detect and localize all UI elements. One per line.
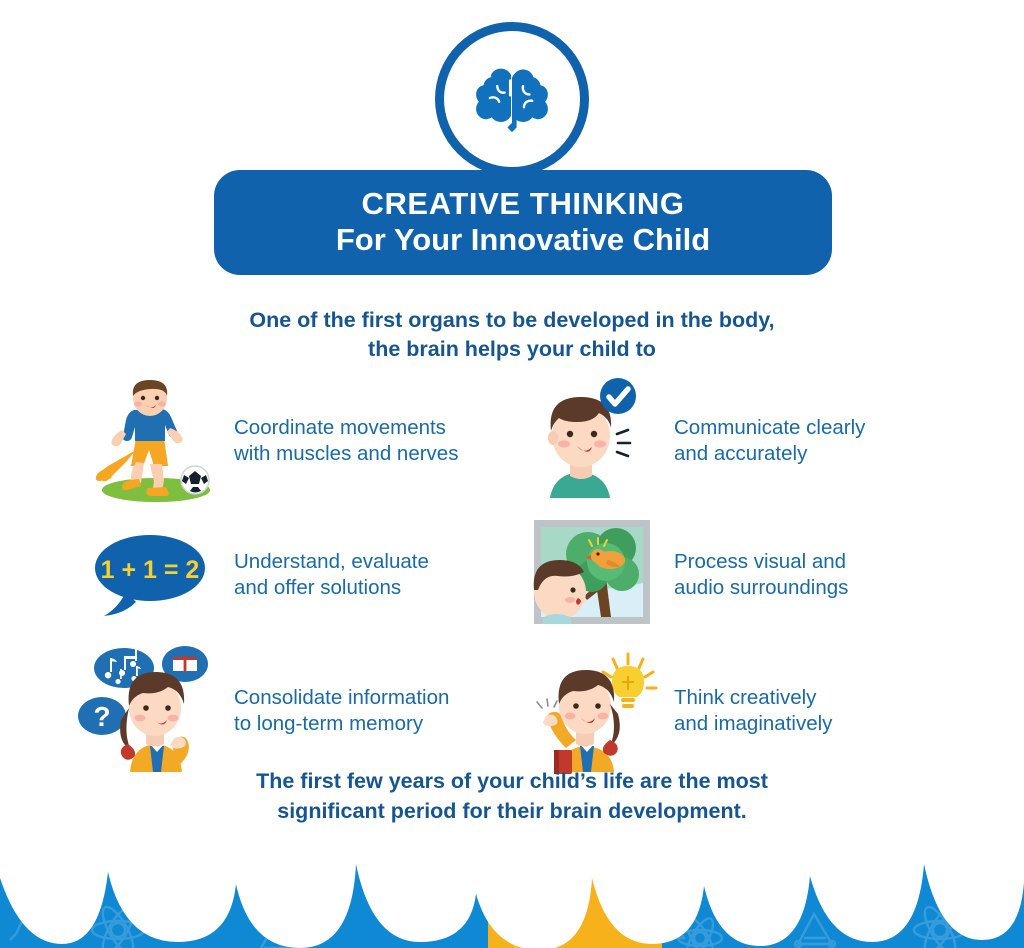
svg-text:?: ?	[93, 701, 110, 732]
benefit-item-communicate-clearly: Communicate clearly and accurately	[518, 372, 958, 510]
benefit-text-line-1: Communicate clearly	[674, 415, 865, 441]
title-line-1: CREATIVE THINKING	[361, 187, 684, 222]
subtitle-line-1: One of the first organs to be developed …	[0, 306, 1024, 335]
benefit-text: Coordinate movements with muscles and ne…	[234, 415, 458, 467]
accent-patch	[488, 838, 662, 948]
benefit-item-coordinate-movements: Coordinate movements with muscles and ne…	[78, 372, 518, 510]
bottom-wave-decoration	[0, 838, 1024, 948]
title-line-2: For Your Innovative Child	[336, 222, 710, 259]
benefit-text-line-2: audio surroundings	[674, 575, 848, 601]
benefit-text-line-2: with muscles and nerves	[234, 441, 458, 467]
infographic-poster: CREATIVE THINKING For Your Innovative Ch…	[0, 0, 1024, 948]
math-speech-bubble-icon: 1 + 1 = 2	[78, 510, 228, 640]
benefit-text-line-1: Process visual and	[674, 549, 848, 575]
benefit-text-line-1: Coordinate movements	[234, 415, 458, 441]
benefit-text: Process visual and audio surroundings	[674, 549, 848, 601]
benefit-text: Think creatively and imaginatively	[674, 685, 832, 737]
footer-line-2: significant period for their brain devel…	[0, 796, 1024, 826]
title-banner: CREATIVE THINKING For Your Innovative Ch…	[214, 170, 832, 275]
bubble-math-text: 1 + 1 = 2	[101, 556, 200, 584]
subtitle-line-2: the brain helps your child to	[0, 335, 1024, 364]
benefit-text: Communicate clearly and accurately	[674, 415, 865, 467]
benefits-grid: Coordinate movements with muscles and ne…	[78, 372, 958, 782]
brain-icon	[466, 53, 558, 145]
subtitle: One of the first organs to be developed …	[0, 306, 1024, 364]
window-tree-bird-icon	[518, 510, 668, 640]
benefits-row-2: 1 + 1 = 2 Understand, evaluate and offer…	[78, 510, 958, 640]
benefit-item-think-creatively: Think creatively and imaginatively	[518, 640, 958, 782]
footer-line-1: The first few years of your child’s life…	[0, 766, 1024, 796]
benefit-item-process-visual-audio: Process visual and audio surroundings	[518, 510, 958, 640]
soccer-boy-icon	[78, 376, 228, 506]
benefit-item-consolidate-information: ?	[78, 640, 518, 782]
footer-note: The first few years of your child’s life…	[0, 766, 1024, 826]
benefit-text-line-1: Understand, evaluate	[234, 549, 429, 575]
idea-girl-lightbulb-icon	[518, 646, 668, 776]
talking-boy-check-icon	[518, 376, 668, 506]
benefits-row-1: Coordinate movements with muscles and ne…	[78, 372, 958, 510]
brain-logo-badge	[435, 22, 589, 176]
benefit-item-understand-evaluate: 1 + 1 = 2 Understand, evaluate and offer…	[78, 510, 518, 640]
benefit-text-line-2: to long-term memory	[234, 711, 449, 737]
benefit-text-line-2: and offer solutions	[234, 575, 429, 601]
benefit-text-line-1: Consolidate information	[234, 685, 449, 711]
thinking-girl-memory-icon: ?	[78, 646, 228, 776]
benefit-text-line-1: Think creatively	[674, 685, 832, 711]
benefit-text-line-2: and imaginatively	[674, 711, 832, 737]
benefit-text: Consolidate information to long-term mem…	[234, 685, 449, 737]
benefits-row-3: ?	[78, 640, 958, 782]
benefit-text: Understand, evaluate and offer solutions	[234, 549, 429, 601]
benefit-text-line-2: and accurately	[674, 441, 865, 467]
